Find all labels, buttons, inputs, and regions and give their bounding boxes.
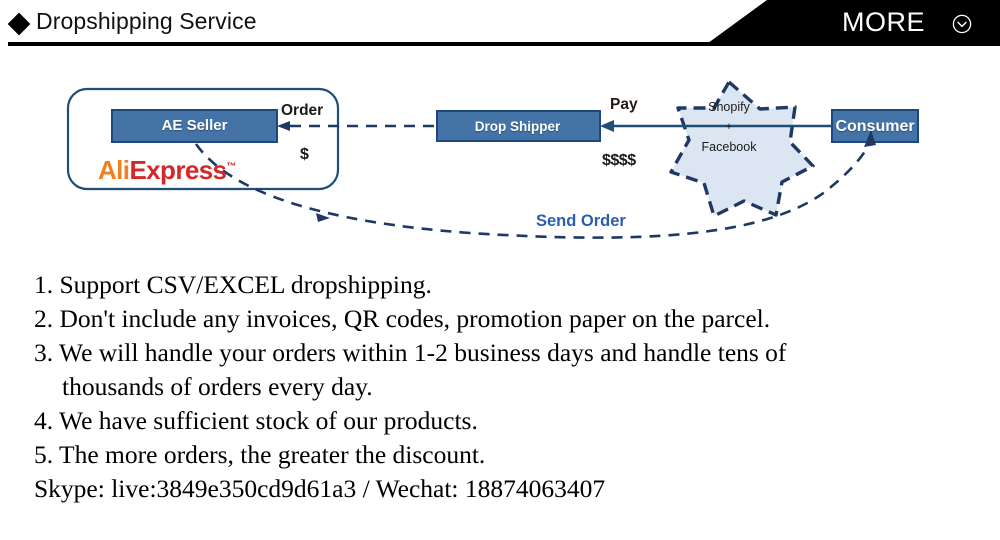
dropshipping-service-page: Dropshipping Service MORE bbox=[0, 0, 1000, 540]
order-label: Order bbox=[281, 102, 323, 120]
consumer-label: Consumer bbox=[834, 118, 916, 136]
pay-arrowhead bbox=[600, 120, 614, 132]
section-header: Dropshipping Service MORE bbox=[0, 0, 1000, 48]
note-item: 5. The more orders, the greater the disc… bbox=[34, 438, 974, 472]
note-item: 2. Don't include any invoices, QR codes,… bbox=[34, 302, 974, 336]
pay-label: Pay bbox=[610, 96, 638, 114]
note-item: 3. We will handle your orders within 1-2… bbox=[34, 336, 974, 370]
platform-shopify-label: Shopify bbox=[690, 100, 768, 114]
aliexpress-logo-express: Express bbox=[129, 155, 226, 185]
ae-seller-label: AE Seller bbox=[118, 117, 271, 134]
note-item: 4. We have sufficient stock of our produ… bbox=[34, 404, 974, 438]
contact-line: Skype: live:3849e350cd9d61a3 / Wechat: 1… bbox=[34, 472, 974, 506]
note-item: 1. Support CSV/EXCEL dropshipping. bbox=[34, 268, 974, 302]
dollar-label: $ bbox=[300, 146, 309, 164]
platform-plus-label: + bbox=[690, 121, 768, 133]
note-item-continuation: thousands of orders every day. bbox=[34, 370, 974, 404]
aliexpress-logo-ali: Ali bbox=[98, 155, 129, 185]
drop-shipper-label: Drop Shipper bbox=[441, 119, 594, 134]
dropshipping-notes-list: 1. Support CSV/EXCEL dropshipping. 2. Do… bbox=[34, 268, 974, 506]
money-label: $$$$ bbox=[602, 152, 636, 170]
dropshipping-flow-diagram: AE Seller Drop Shipper Consumer Shopify … bbox=[0, 52, 1000, 262]
aliexpress-logo-tm: ™ bbox=[226, 161, 235, 172]
more-button-label: MORE bbox=[842, 7, 925, 38]
platform-facebook-label: Facebook bbox=[686, 140, 772, 154]
chevron-down-circle-icon[interactable] bbox=[952, 14, 972, 34]
aliexpress-logo: AliExpress™ bbox=[98, 155, 236, 186]
page-title: Dropshipping Service bbox=[36, 8, 257, 35]
send-order-label: Send Order bbox=[536, 212, 626, 231]
diamond-icon bbox=[8, 13, 31, 36]
